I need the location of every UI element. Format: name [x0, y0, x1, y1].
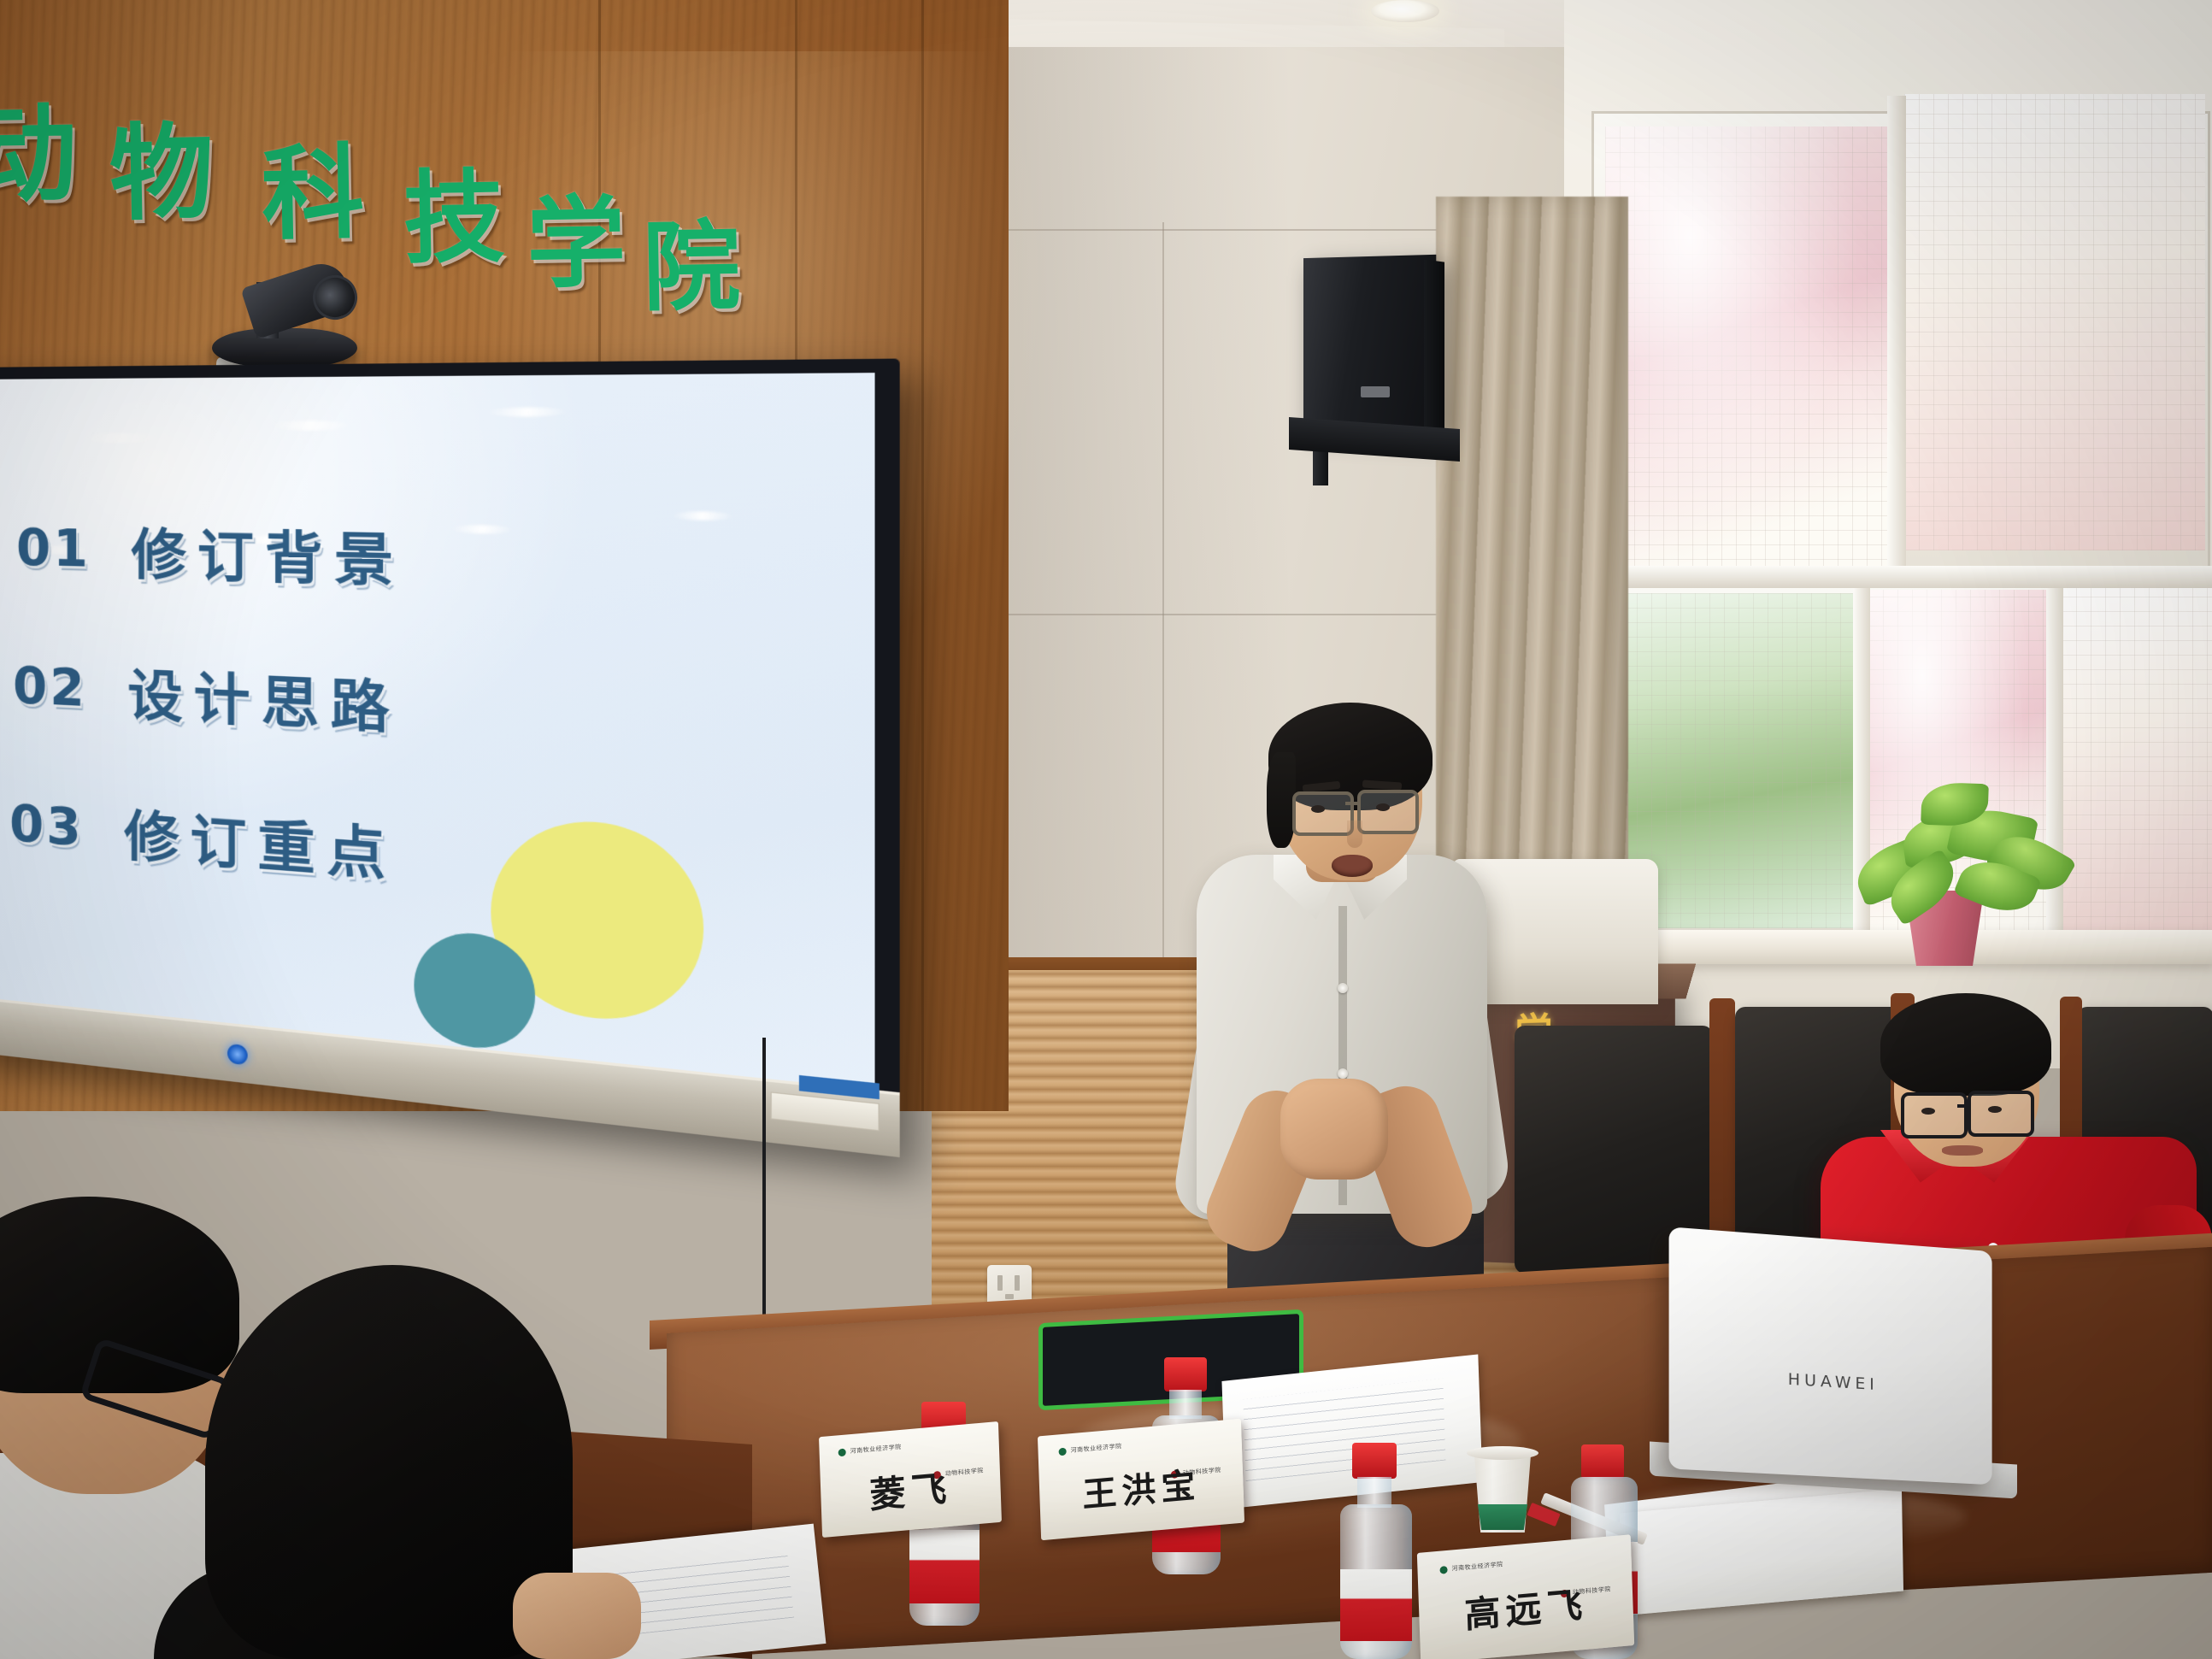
screen-glare	[270, 421, 351, 431]
sign-character: 科	[261, 143, 365, 247]
nameplate: 河南牧业经济学院 动物科技学院 王洪宝	[1038, 1419, 1244, 1540]
screen-glare	[81, 432, 161, 444]
attendee-glasses-lens	[1901, 1092, 1968, 1138]
wall-speaker	[1303, 255, 1436, 429]
nameplate-logo-icon	[838, 1449, 846, 1457]
screen-glare	[451, 525, 513, 534]
agenda-label: 设计思路	[127, 651, 401, 745]
agenda-item-3: 03 修订重点	[9, 784, 397, 891]
shirt-button	[1338, 1068, 1348, 1079]
agenda-label: 修订背景	[131, 510, 405, 597]
power-button-icon[interactable]	[227, 1044, 248, 1066]
nameplate-logo-icon	[1439, 1566, 1447, 1574]
smart-board-screen[interactable]: 01 修订背景 02 设计思路 03 修订重点	[0, 373, 875, 1095]
outlet-slot	[1015, 1275, 1020, 1291]
sign-character: 学	[526, 194, 627, 295]
attendee-glasses-lens	[1968, 1091, 2034, 1137]
wood-seam	[921, 0, 924, 1111]
nameplate-org-left: 河南牧业经济学院	[850, 1443, 902, 1456]
speaker-badge	[1361, 386, 1390, 397]
agenda-label: 修订重点	[124, 791, 397, 892]
attendee-glasses-bridge	[1957, 1104, 1971, 1108]
nameplate-org-left: 河南牧业经济学院	[1451, 1560, 1503, 1573]
presenter-glasses-lens	[1292, 791, 1354, 836]
agenda-item-1: 01 修订背景	[16, 509, 405, 597]
window-pane	[2062, 586, 2212, 932]
sign-character: 技	[403, 167, 505, 269]
presenter-nose	[1347, 821, 1362, 848]
window-pane	[1605, 126, 1887, 574]
nameplate-org-left: 河南牧业经济学院	[1070, 1442, 1121, 1455]
presenter-eye	[1376, 803, 1390, 811]
sign-character: 物	[109, 121, 215, 226]
bottle-label	[1340, 1569, 1412, 1641]
sign-character: 动	[0, 102, 78, 209]
presenter-glasses-lens	[1357, 790, 1419, 834]
shirt-button	[1338, 983, 1348, 993]
outlet-slot	[997, 1275, 1003, 1291]
bottle-cap	[1164, 1357, 1207, 1391]
wall-panel-seam	[1162, 222, 1164, 991]
screen-glare	[672, 511, 734, 521]
screen-glare	[487, 407, 568, 416]
camera-base	[212, 328, 357, 368]
agenda-number: 03	[9, 793, 84, 857]
presenter-mouth	[1332, 855, 1373, 877]
presenter-eye	[1311, 805, 1325, 813]
outlet-slot	[1005, 1294, 1014, 1299]
nameplate: 河南牧业经济学院 动物科技学院 菱飞	[819, 1421, 1002, 1538]
sign-character: 院	[642, 218, 741, 317]
notepad	[1221, 1355, 1482, 1509]
ceiling-downlight	[1371, 0, 1439, 22]
agenda-number: 02	[13, 656, 87, 718]
bottle-label	[909, 1530, 980, 1603]
paper-cup-rim	[1467, 1446, 1538, 1460]
agenda-number: 01	[16, 518, 91, 579]
window-pane	[1904, 94, 2205, 550]
attendee-eye	[1921, 1108, 1935, 1115]
bottle-neck	[1357, 1477, 1391, 1508]
paper-cup-band	[1476, 1504, 1529, 1530]
speaker-side	[1424, 259, 1444, 429]
laptop[interactable]: HUAWEI	[1669, 1227, 1992, 1485]
bottle-cap	[1352, 1443, 1397, 1479]
laptop-brand-label: HUAWEI	[1669, 1362, 1992, 1401]
window-transom	[1597, 566, 2212, 588]
presenter-glasses-bridge	[1345, 802, 1359, 805]
presenter-clasped-hands	[1280, 1079, 1388, 1180]
nameplate-name: 王洪宝	[1038, 1454, 1244, 1521]
attendee-mouth	[1942, 1145, 1983, 1156]
presenter-hair-side	[1267, 752, 1296, 848]
nameplate-logo-icon	[1058, 1448, 1066, 1456]
window-mullion	[1887, 96, 1906, 576]
bottle-cap	[1581, 1444, 1624, 1479]
window-sill	[1583, 930, 2212, 964]
conference-room-photo: 动 物 科 技 学 院 01 修订背景	[0, 0, 2212, 1659]
nameplate-name: 高远飞	[1418, 1572, 1633, 1643]
agenda-item-2: 02 设计思路	[13, 646, 401, 744]
bottle-neck	[1169, 1390, 1202, 1419]
attendee-hair	[1880, 993, 2051, 1096]
notepad-lines	[1243, 1379, 1445, 1481]
nameplate-name: 菱飞	[820, 1456, 1001, 1523]
attendee-eye	[1988, 1106, 2002, 1113]
nameplate: 河南牧业经济学院 动物科技学院 高远飞	[1417, 1534, 1634, 1659]
foreground-person-2-hand	[513, 1573, 641, 1659]
